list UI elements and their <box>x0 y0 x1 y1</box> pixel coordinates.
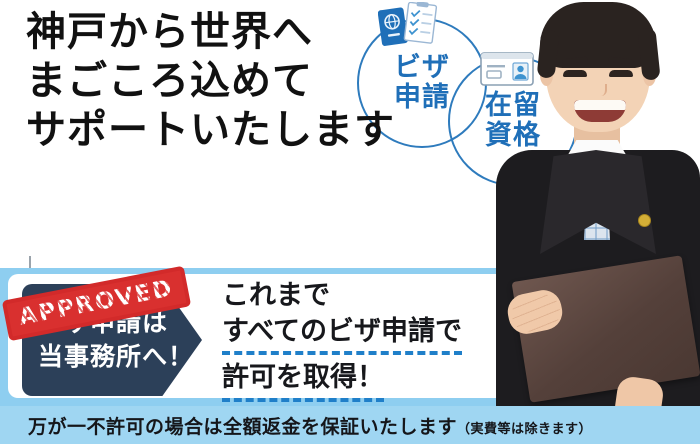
eye-left <box>563 70 587 77</box>
headline-line-2: まごころ込めて <box>26 57 426 106</box>
nose <box>595 84 607 96</box>
guarantee-note: （実費等は除きます） <box>457 422 592 437</box>
teeth <box>574 100 626 110</box>
headline-line-1: 神戸から世界へ <box>26 8 426 57</box>
headline-line-3: サポートいたします <box>26 106 426 155</box>
visa-service-banner: 神戸から世界へ まごころ込めて サポートいたします ビザ 申請 在留 資格 <box>0 0 700 444</box>
claim-block: これまで すべてのビザ申請で 許可を取得！ <box>222 278 562 402</box>
eye-right <box>609 70 633 77</box>
guarantee-main: 万が一不許可の場合は全額返金を保証いたします <box>28 416 457 438</box>
smiling-mouth <box>574 100 626 122</box>
claim-line-1: これまで <box>222 278 562 314</box>
page-title: 神戸から世界へ まごころ込めて サポートいたします <box>26 8 426 155</box>
claim-line-3: 許可を取得！ <box>222 359 384 402</box>
guarantee-text: 万が一不許可の場合は全額返金を保証いたします（実費等は除きます） <box>28 412 592 439</box>
passport-icon <box>378 2 440 50</box>
navy-banner-line-2: 当事務所へ！ <box>38 340 202 374</box>
guarantee-bar: 万が一不許可の場合は全額返金を保証いたします（実費等は除きます） <box>0 406 700 444</box>
lapel-badge <box>638 214 651 227</box>
claim-line-2: すべてのビザ申請で <box>222 314 462 355</box>
